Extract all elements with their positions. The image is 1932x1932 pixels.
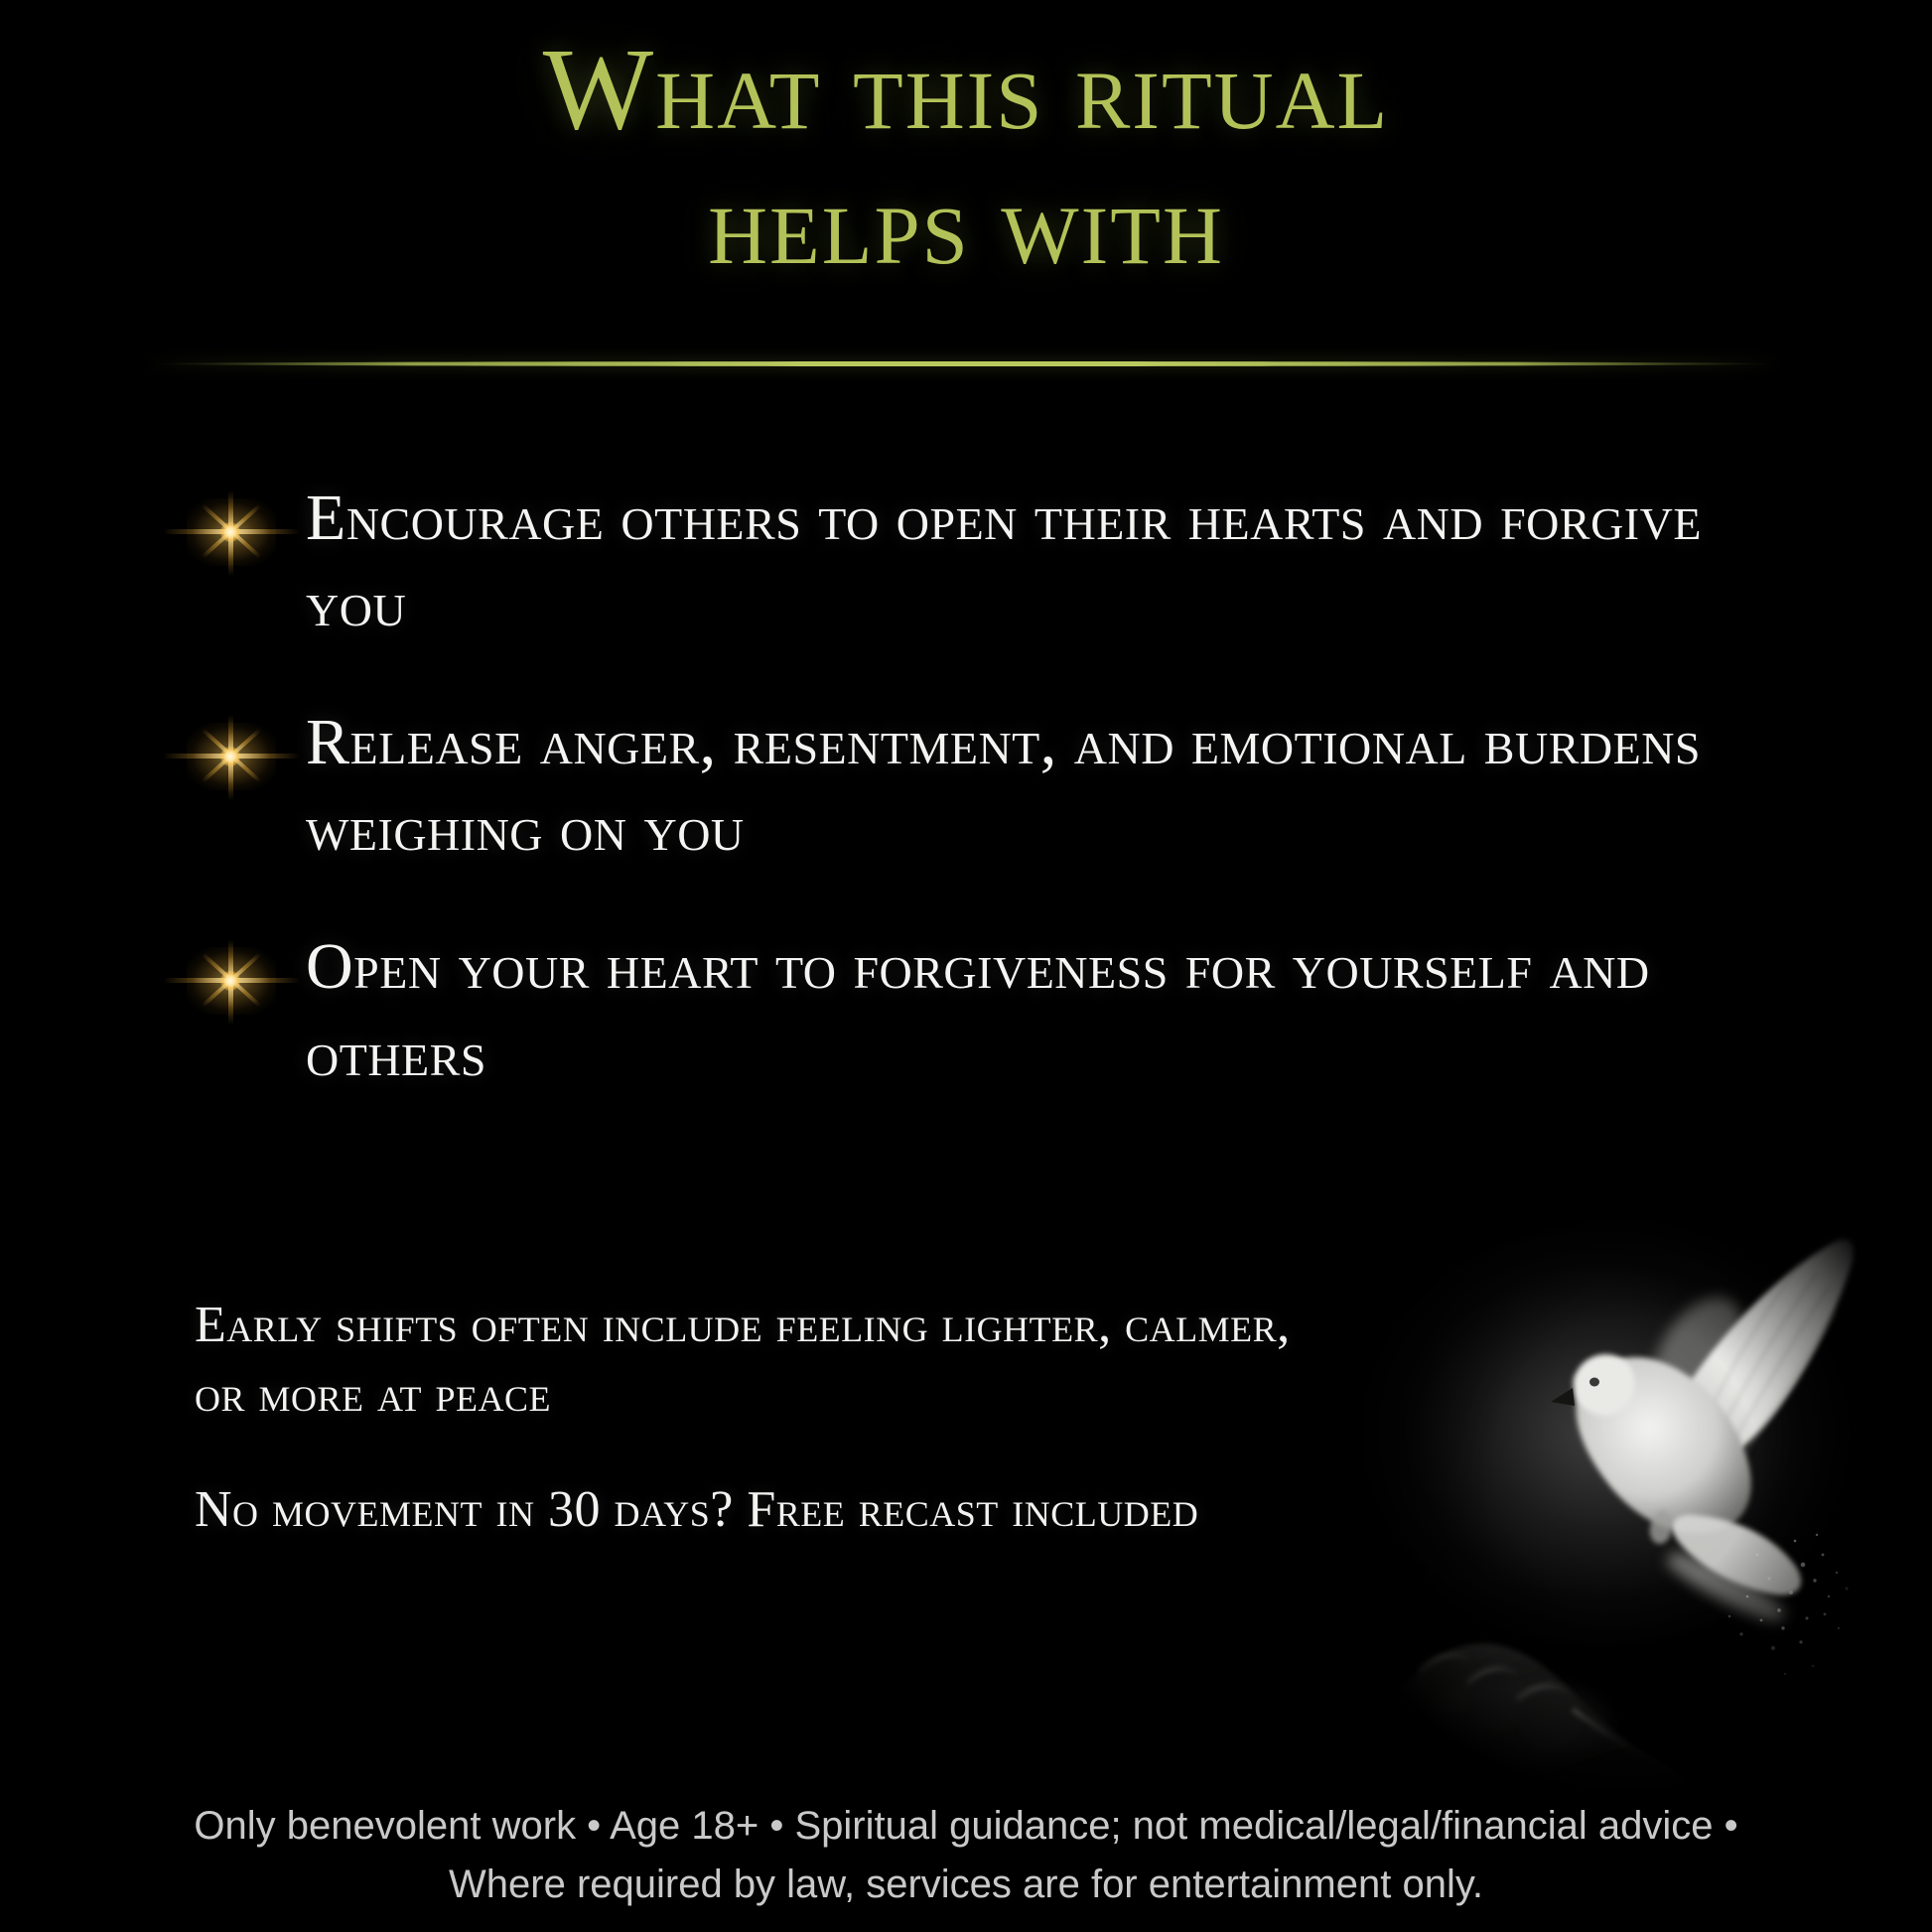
benefit-text: Release anger, resentment, and emotional… — [306, 699, 1795, 872]
list-item: Open your heart to forgiveness for yours… — [0, 923, 1932, 1096]
promotional-card: What this ritual helps with Encourage ot… — [0, 0, 1932, 1932]
title-divider — [149, 361, 1777, 366]
sparkle-star-icon — [157, 933, 306, 1029]
note-free-recast: No movement in 30 days? Free recast incl… — [195, 1475, 1336, 1545]
sparkle-star-icon — [157, 484, 306, 580]
legal-disclaimer: Only benevolent work • Age 18+ • Spiritu… — [159, 1797, 1773, 1914]
page-title-line-2: helps with — [0, 157, 1932, 292]
benefit-text: Open your heart to forgiveness for yours… — [306, 923, 1795, 1096]
page-title: What this ritual helps with — [0, 22, 1932, 291]
benefit-text: Encourage others to open their hearts an… — [306, 475, 1795, 647]
list-item: Encourage others to open their hearts an… — [0, 475, 1932, 647]
photo-glow — [1320, 1122, 1932, 1797]
dove-illustration — [1320, 1122, 1932, 1797]
sparkle-star-icon — [157, 709, 306, 804]
photo-vignette — [1320, 1122, 1932, 1797]
dove-released-from-hands-photo — [1320, 1122, 1932, 1797]
supporting-notes: Early shifts often include feeling light… — [195, 1291, 1336, 1546]
benefits-list: Encourage others to open their hearts an… — [0, 475, 1932, 1149]
list-item: Release anger, resentment, and emotional… — [0, 699, 1932, 872]
note-early-shifts: Early shifts often include feeling light… — [195, 1291, 1336, 1430]
page-title-line-1: What this ritual — [0, 22, 1932, 157]
